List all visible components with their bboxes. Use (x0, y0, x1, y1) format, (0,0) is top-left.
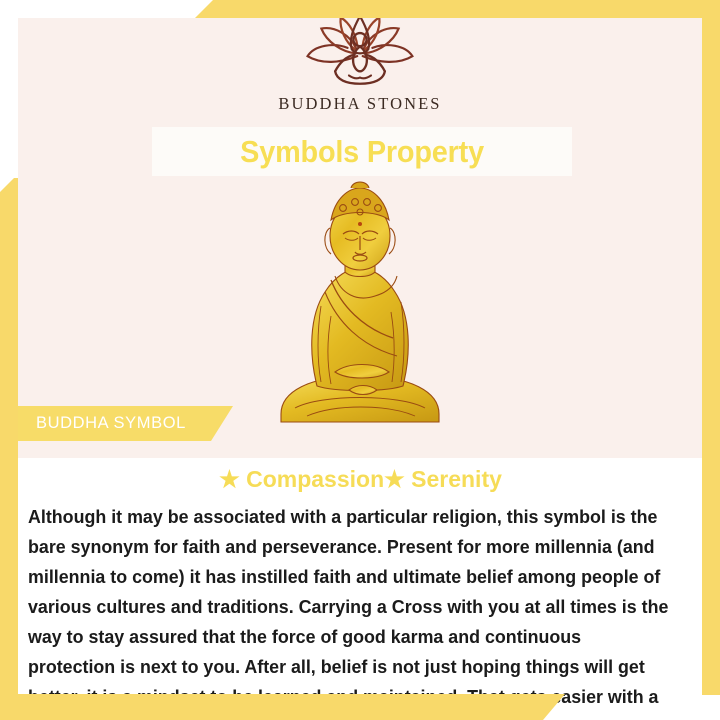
title-band: Symbols Property (152, 127, 572, 176)
lower-panel: ★ Compassion★ Serenity Although it may b… (18, 458, 703, 690)
seated-buddha-illustration (265, 176, 455, 436)
brand-logo: BUDDHA STONES (0, 12, 720, 114)
brand-name: BUDDHA STONES (278, 94, 441, 114)
frame-bar-left (0, 178, 18, 720)
content-paragraph: Although it may be associated with a par… (28, 502, 673, 720)
lotus-meditation-icon (291, 12, 429, 90)
frame-bar-bottom (0, 694, 565, 720)
poster-root: ★ Compassion★ Serenity Although it may b… (0, 0, 720, 720)
page-title: Symbols Property (240, 134, 484, 170)
status-badge: BUDDHA SYMBOL (18, 406, 233, 441)
frame-bar-right (702, 0, 720, 695)
frame-bar-top (195, 0, 720, 18)
content-subtitle: ★ Compassion★ Serenity (18, 466, 703, 493)
badge-label: BUDDHA SYMBOL (18, 414, 186, 433)
